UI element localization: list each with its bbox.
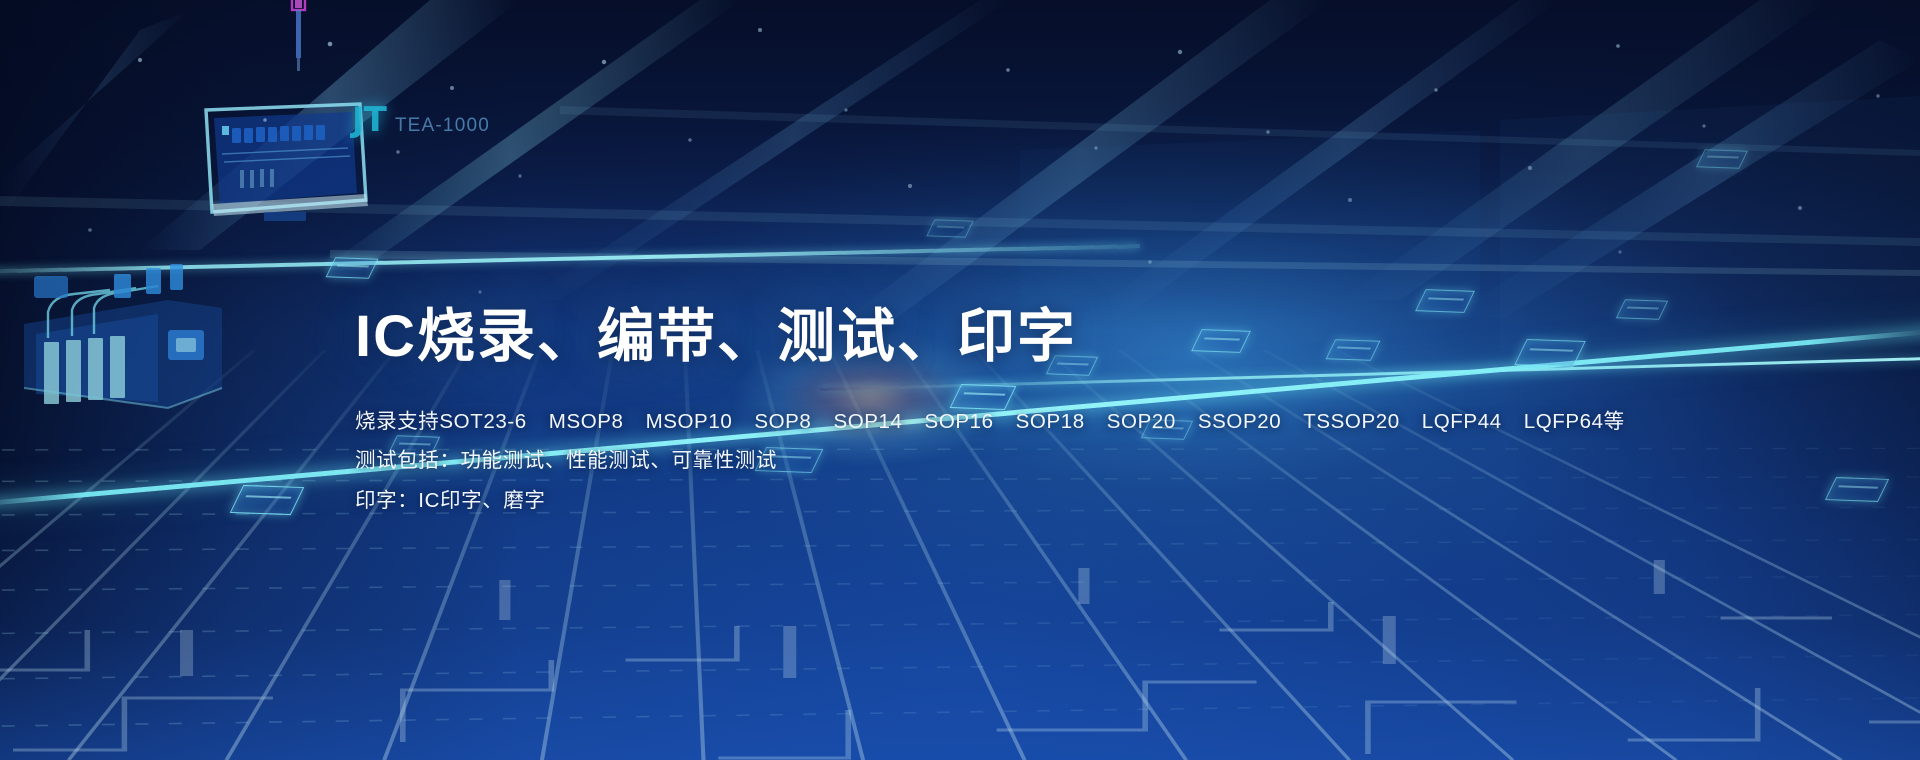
brand-logo-text: JT [352, 100, 386, 140]
package-item: MSOP8 [549, 402, 624, 441]
package-item: SOP20 [1107, 402, 1176, 441]
package-item: LQFP64等 [1524, 402, 1625, 441]
package-item: SOP16 [925, 402, 994, 441]
chip-sprite [1616, 299, 1669, 320]
overhead-probe [283, 0, 313, 72]
package-item: SOP14 [833, 402, 902, 441]
package-item: LQFP44 [1422, 402, 1502, 441]
page-title: IC烧录、编带、测试、印字 [355, 305, 1615, 370]
testing-line: 测试包括：功能测试、性能测试、可靠性测试 [355, 441, 1615, 480]
package-item: SSOP20 [1198, 402, 1281, 441]
package-item: SOP8 [754, 402, 811, 441]
marking-line: 印字：IC印字、磨字 [355, 481, 1615, 520]
chip-sprite [1825, 477, 1889, 502]
chip-sprite [926, 219, 974, 237]
brand-mark: JT TEA-1000 [352, 100, 490, 140]
hero-banner: JT TEA-1000 [0, 0, 1920, 760]
chip-sprite [1696, 149, 1748, 169]
package-item: SOT23-6 [439, 402, 526, 441]
package-item: SOP18 [1016, 402, 1085, 441]
package-item: MSOP10 [646, 402, 733, 441]
packages-prefix: 烧录支持 [355, 402, 439, 441]
brand-model-text: TEA-1000 [395, 115, 490, 137]
banner-subtext-list: 烧录支持SOT23-6MSOP8MSOP10SOP8SOP14SOP16SOP1… [355, 402, 1615, 520]
machine-rack [18, 238, 228, 458]
monitor-display [200, 100, 372, 225]
package-item: TSSOP20 [1303, 402, 1400, 441]
banner-content: IC烧录、编带、测试、印字 烧录支持SOT23-6MSOP8MSOP10SOP8… [355, 305, 1615, 520]
packages-line: 烧录支持SOT23-6MSOP8MSOP10SOP8SOP14SOP16SOP1… [355, 402, 1615, 441]
